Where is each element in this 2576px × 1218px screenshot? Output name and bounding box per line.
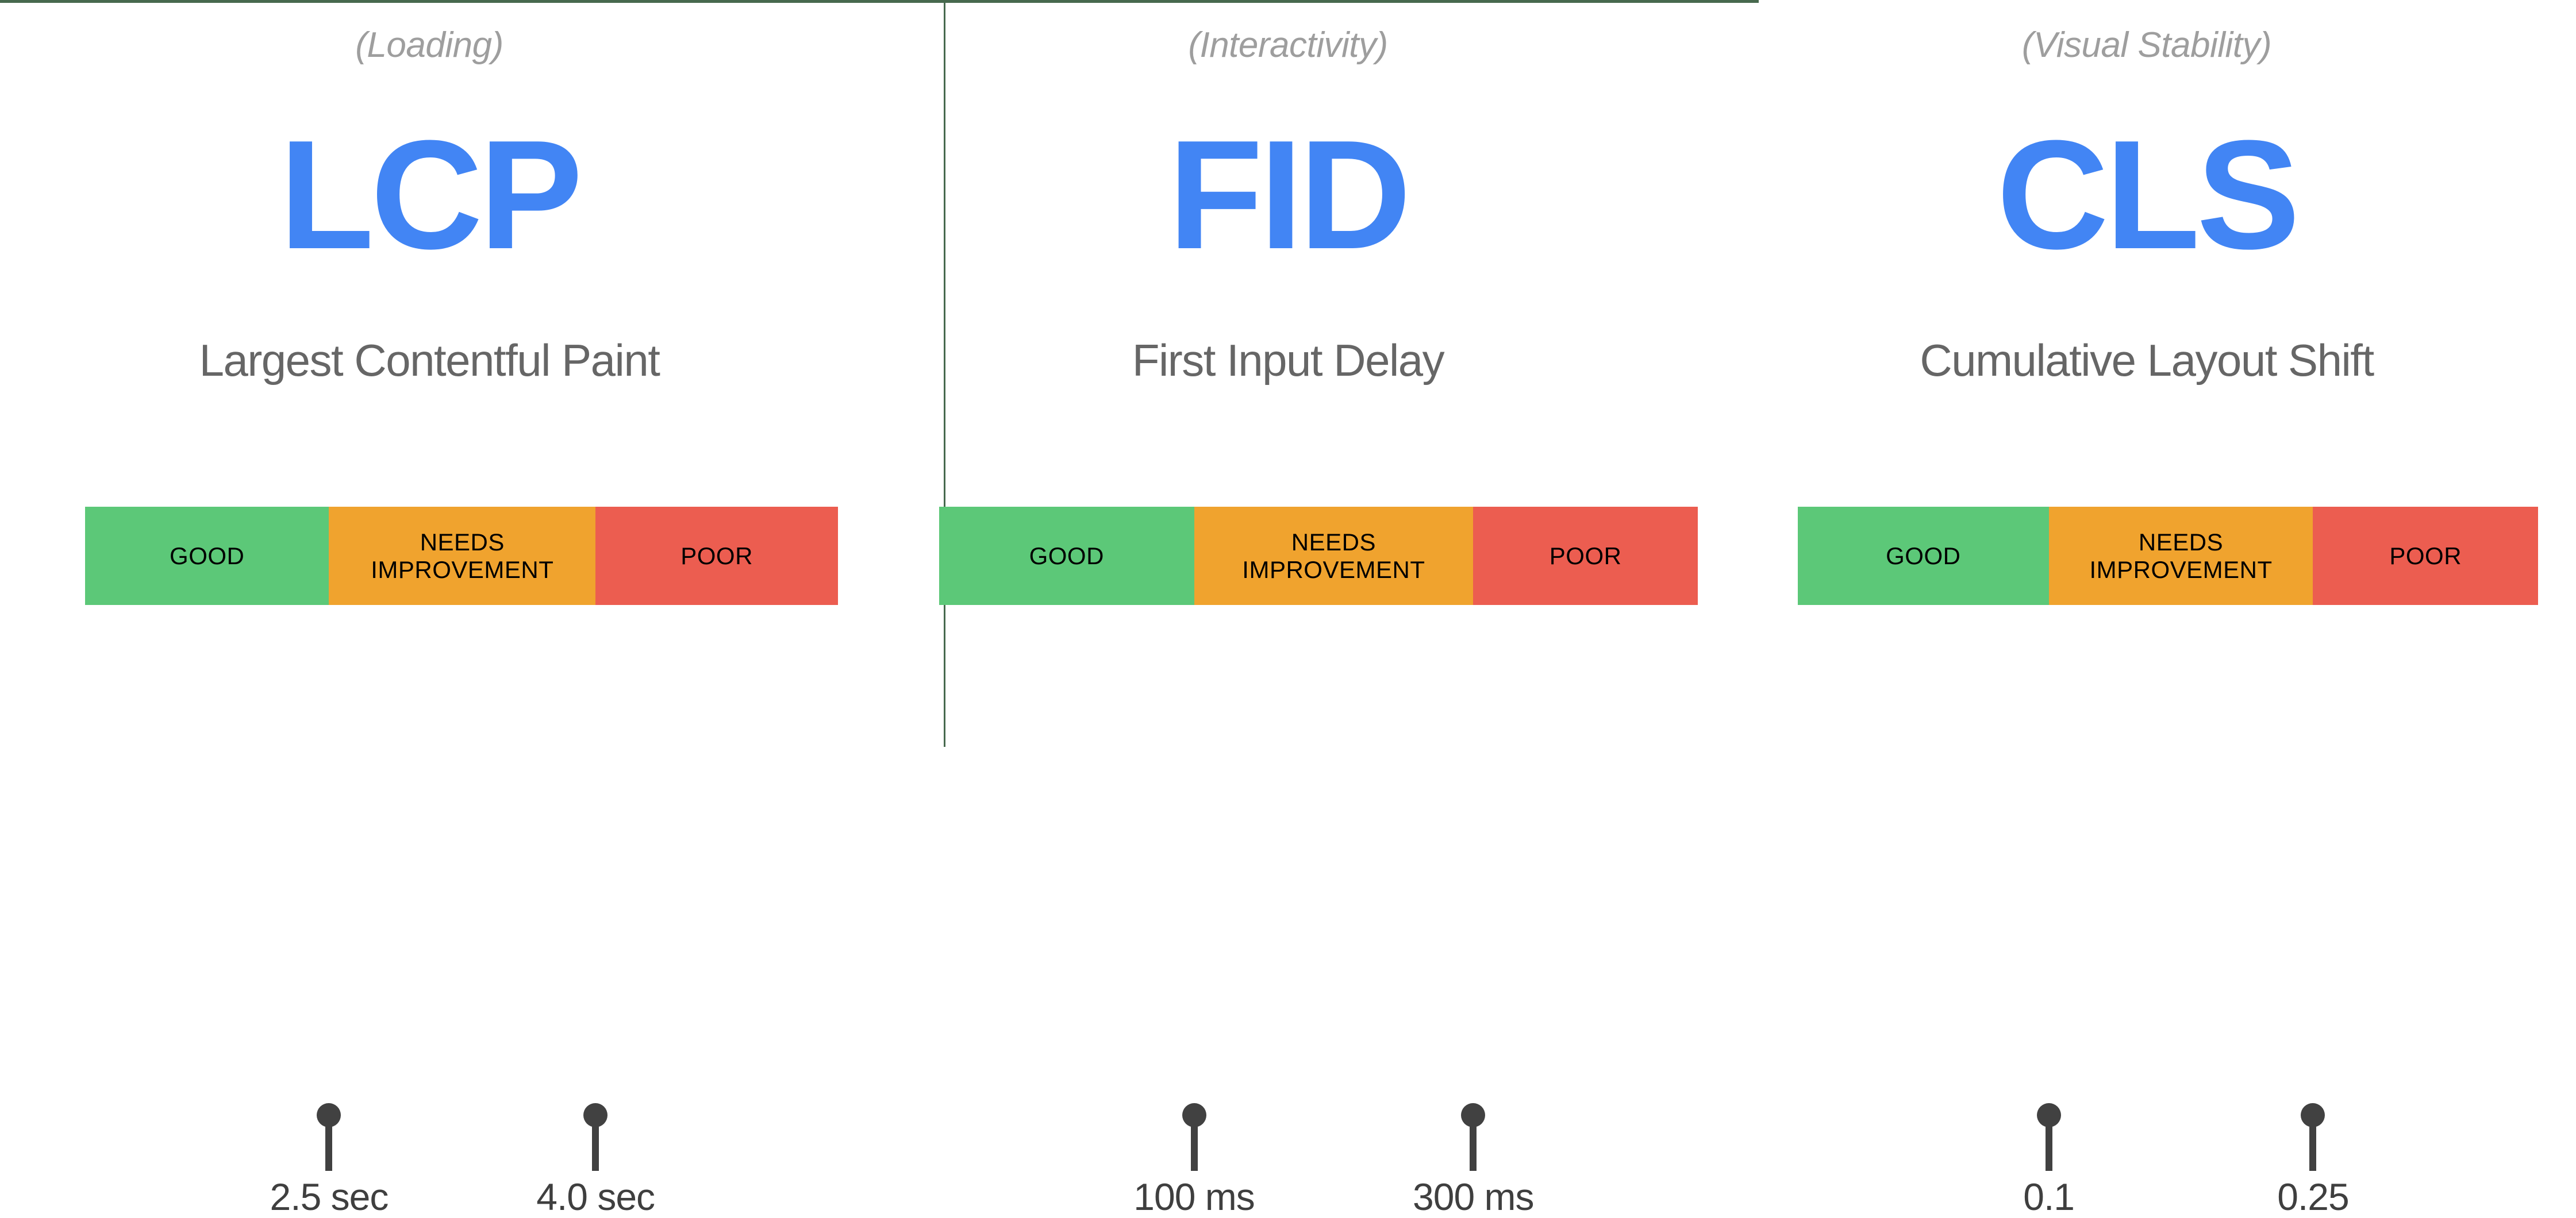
threshold-value-label: 4.0 sec [446,1178,745,1216]
segment-needs-line2: IMPROVEMENT [2089,556,2272,583]
metric-full-name: First Input Delay [859,338,1717,383]
metric-full-name: Cumulative Layout Shift [1717,338,2576,383]
segment-needs-line2: IMPROVEMENT [1242,556,1425,583]
threshold-bar: GOOD NEEDS IMPROVEMENT POOR 2.5 sec 4.0 … [85,507,838,605]
segment-needs-line1: NEEDS [2139,529,2223,556]
marker-stem-icon [2309,1123,2316,1171]
metric-panel-fid: (Interactivity) FID First Input Delay GO… [859,0,1717,747]
segment-needs-improvement: NEEDS IMPROVEMENT [329,507,595,605]
threshold-value-label: 0.25 [2163,1178,2462,1216]
metric-category-label: (Interactivity) [859,28,1717,63]
rating-segments: GOOD NEEDS IMPROVEMENT POOR [85,507,838,605]
marker-stem-icon [2046,1123,2052,1171]
segment-poor: POOR [595,507,838,605]
segment-needs-line1: NEEDS [1291,529,1376,556]
threshold-bar: GOOD NEEDS IMPROVEMENT POOR 0.1 0.25 [1798,507,2538,605]
marker-stem-icon [1470,1123,1477,1171]
rating-segments: GOOD NEEDS IMPROVEMENT POOR [1798,507,2538,605]
metric-acronym: CLS [1717,118,2576,273]
threshold-value-label: 2.5 sec [179,1178,478,1216]
marker-stem-icon [325,1123,332,1171]
threshold-value-label: 300 ms [1324,1178,1623,1216]
segment-needs-improvement: NEEDS IMPROVEMENT [1194,507,1474,605]
metric-acronym: LCP [0,118,859,273]
threshold-bar: GOOD NEEDS IMPROVEMENT POOR 100 ms 300 m… [939,507,1698,605]
marker-stem-icon [1191,1123,1198,1171]
metric-category-label: (Loading) [0,28,859,63]
segment-poor: POOR [1473,507,1698,605]
segment-needs-line1: NEEDS [420,529,505,556]
threshold-value-label: 100 ms [1045,1178,1344,1216]
threshold-value-label: 0.1 [1900,1178,2198,1216]
metric-panel-cls: (Visual Stability) CLS Cumulative Layout… [1717,0,2576,747]
segment-needs-line2: IMPROVEMENT [371,556,553,583]
segment-poor: POOR [2313,507,2538,605]
metric-category-label: (Visual Stability) [1717,28,2576,63]
segment-needs-improvement: NEEDS IMPROVEMENT [2049,507,2313,605]
segment-good: GOOD [939,507,1194,605]
metric-acronym: FID [859,118,1717,273]
segment-good: GOOD [85,507,329,605]
metric-full-name: Largest Contentful Paint [0,338,859,383]
metric-panel-lcp: (Loading) LCP Largest Contentful Paint G… [0,0,859,747]
marker-stem-icon [592,1123,599,1171]
segment-good: GOOD [1798,507,2049,605]
core-web-vitals-diagram: (Loading) LCP Largest Contentful Paint G… [0,0,2576,747]
rating-segments: GOOD NEEDS IMPROVEMENT POOR [939,507,1698,605]
